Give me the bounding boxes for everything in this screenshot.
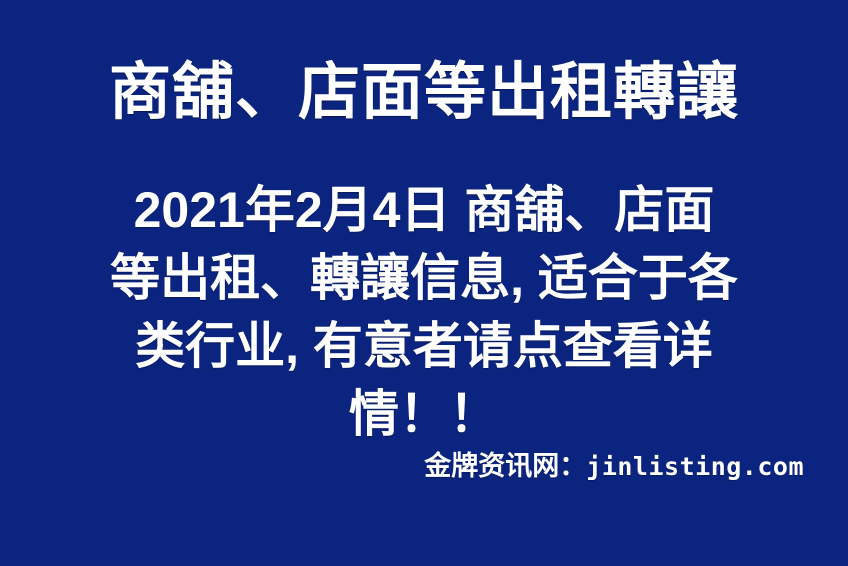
body-line-3: 类行业, 有意者请点查看详 xyxy=(0,312,848,380)
site-name-label: 金牌资讯网： xyxy=(424,451,586,481)
poster-headline: 商舖、店面等出租轉讓 xyxy=(0,56,848,130)
poster-body-text: 2021年2月4日 商舖、店面 等出租、轉讓信息, 适合于各 类行业, 有意者请… xyxy=(0,176,848,448)
body-line-2: 等出租、轉讓信息, 适合于各 xyxy=(0,244,848,312)
poster-footer: 金牌资讯网：jinlisting.com xyxy=(0,450,848,483)
site-url-label: jinlisting.com xyxy=(586,452,804,481)
poster-canvas: 商舖、店面等出租轉讓 2021年2月4日 商舖、店面 等出租、轉讓信息, 适合于… xyxy=(0,0,848,566)
body-line-4: 情！！ xyxy=(0,380,848,448)
body-line-1: 2021年2月4日 商舖、店面 xyxy=(0,176,848,244)
